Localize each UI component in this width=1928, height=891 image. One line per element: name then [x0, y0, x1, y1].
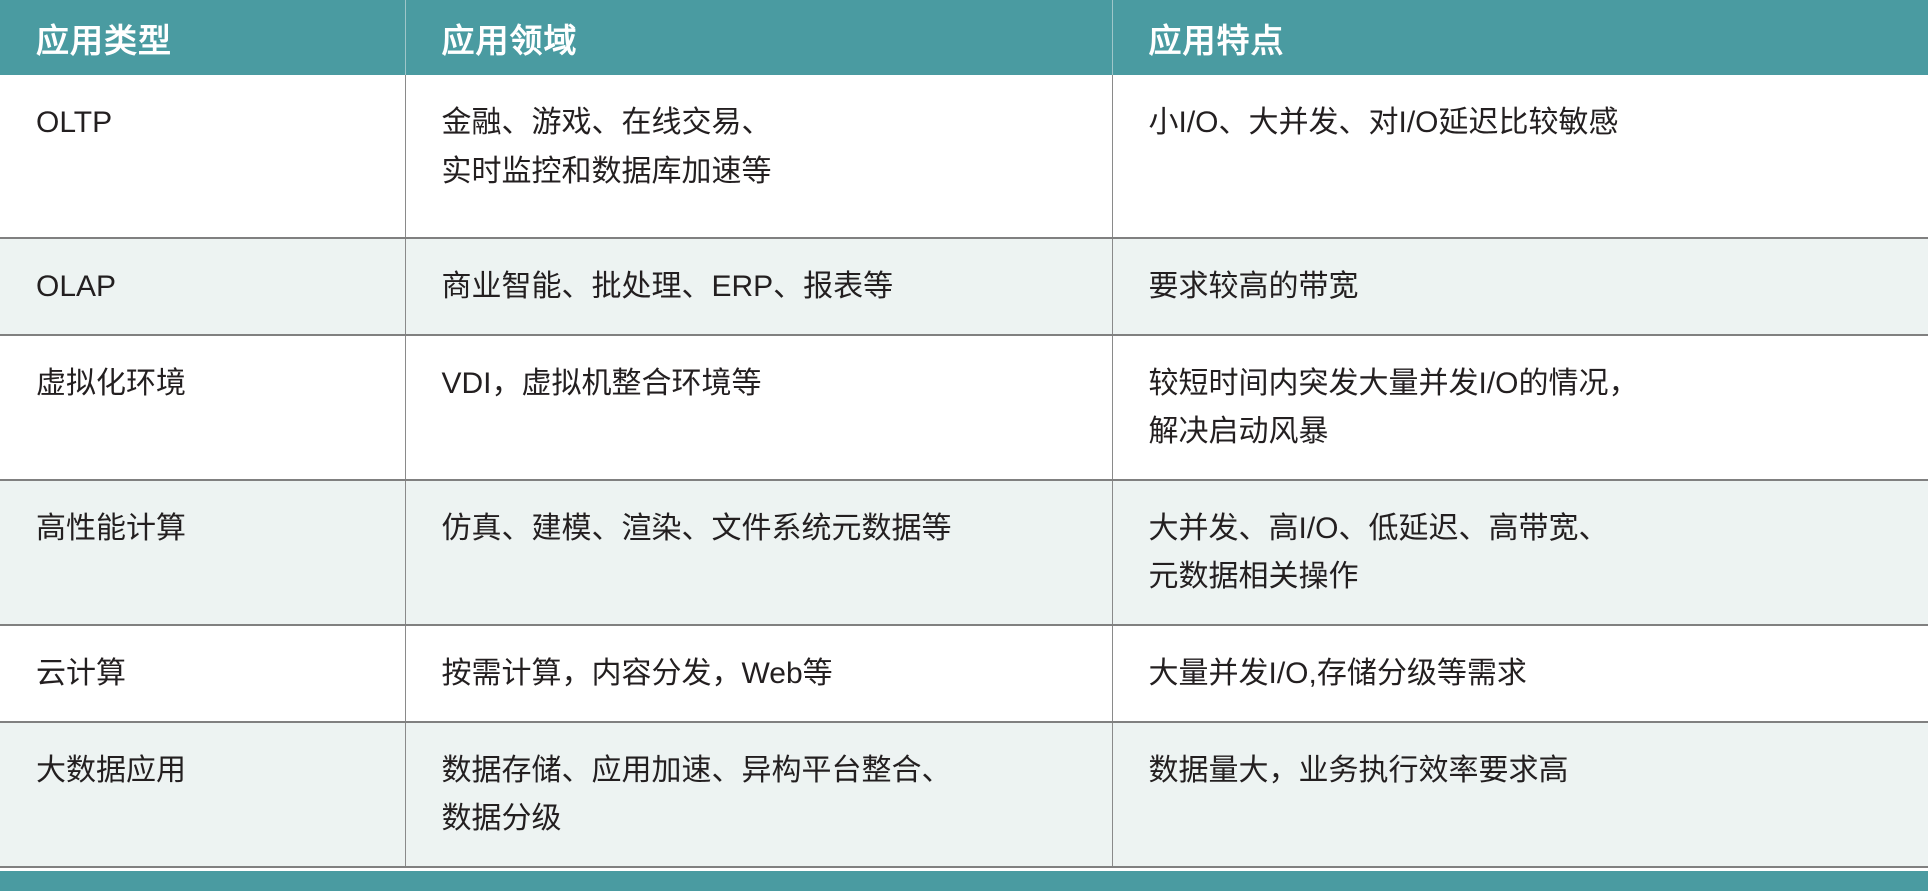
cell-feature: 小I/O、大并发、对I/O延迟比较敏感 — [1112, 75, 1928, 238]
cell-type: 高性能计算 — [0, 480, 405, 625]
table-row: OLAP 商业智能、批处理、ERP、报表等 要求较高的带宽 — [0, 238, 1928, 335]
cell-feature: 大并发、高I/O、低延迟、高带宽、 元数据相关操作 — [1112, 480, 1928, 625]
cell-domain: 商业智能、批处理、ERP、报表等 — [405, 238, 1112, 335]
table-row: 虚拟化环境 VDI，虚拟机整合环境等 较短时间内突发大量并发I/O的情况， 解决… — [0, 335, 1928, 480]
table-page: 应用类型 应用领域 应用特点 OLTP 金融、游戏、在线交易、 实时监控和数据库… — [0, 0, 1928, 815]
cell-domain: VDI，虚拟机整合环境等 — [405, 335, 1112, 480]
cell-type: 大数据应用 — [0, 722, 405, 867]
table-body: OLTP 金融、游戏、在线交易、 实时监控和数据库加速等 小I/O、大并发、对I… — [0, 75, 1928, 867]
column-header-domain: 应用领域 — [405, 0, 1112, 75]
cell-type: OLTP — [0, 75, 405, 238]
header-row: 应用类型 应用领域 应用特点 — [0, 0, 1928, 75]
cell-domain: 仿真、建模、渲染、文件系统元数据等 — [405, 480, 1112, 625]
cell-feature: 数据量大，业务执行效率要求高 — [1112, 722, 1928, 867]
cell-feature: 要求较高的带宽 — [1112, 238, 1928, 335]
cell-feature: 较短时间内突发大量并发I/O的情况， 解决启动风暴 — [1112, 335, 1928, 480]
application-type-table: 应用类型 应用领域 应用特点 OLTP 金融、游戏、在线交易、 实时监控和数据库… — [0, 0, 1928, 868]
cell-type: 云计算 — [0, 625, 405, 722]
cell-feature: 大量并发I/O,存储分级等需求 — [1112, 625, 1928, 722]
column-header-type: 应用类型 — [0, 0, 405, 75]
table-row: OLTP 金融、游戏、在线交易、 实时监控和数据库加速等 小I/O、大并发、对I… — [0, 75, 1928, 238]
table-row: 大数据应用 数据存储、应用加速、异构平台整合、 数据分级 数据量大，业务执行效率… — [0, 722, 1928, 867]
table-header: 应用类型 应用领域 应用特点 — [0, 0, 1928, 75]
cell-domain: 按需计算，内容分发，Web等 — [405, 625, 1112, 722]
cell-type: 虚拟化环境 — [0, 335, 405, 480]
table-row: 云计算 按需计算，内容分发，Web等 大量并发I/O,存储分级等需求 — [0, 625, 1928, 722]
cell-domain: 数据存储、应用加速、异构平台整合、 数据分级 — [405, 722, 1112, 867]
cell-type: OLAP — [0, 238, 405, 335]
column-header-feature: 应用特点 — [1112, 0, 1928, 75]
table-row: 高性能计算 仿真、建模、渲染、文件系统元数据等 大并发、高I/O、低延迟、高带宽… — [0, 480, 1928, 625]
cell-domain: 金融、游戏、在线交易、 实时监控和数据库加速等 — [405, 75, 1112, 238]
footer-accent-bar — [0, 871, 1928, 891]
